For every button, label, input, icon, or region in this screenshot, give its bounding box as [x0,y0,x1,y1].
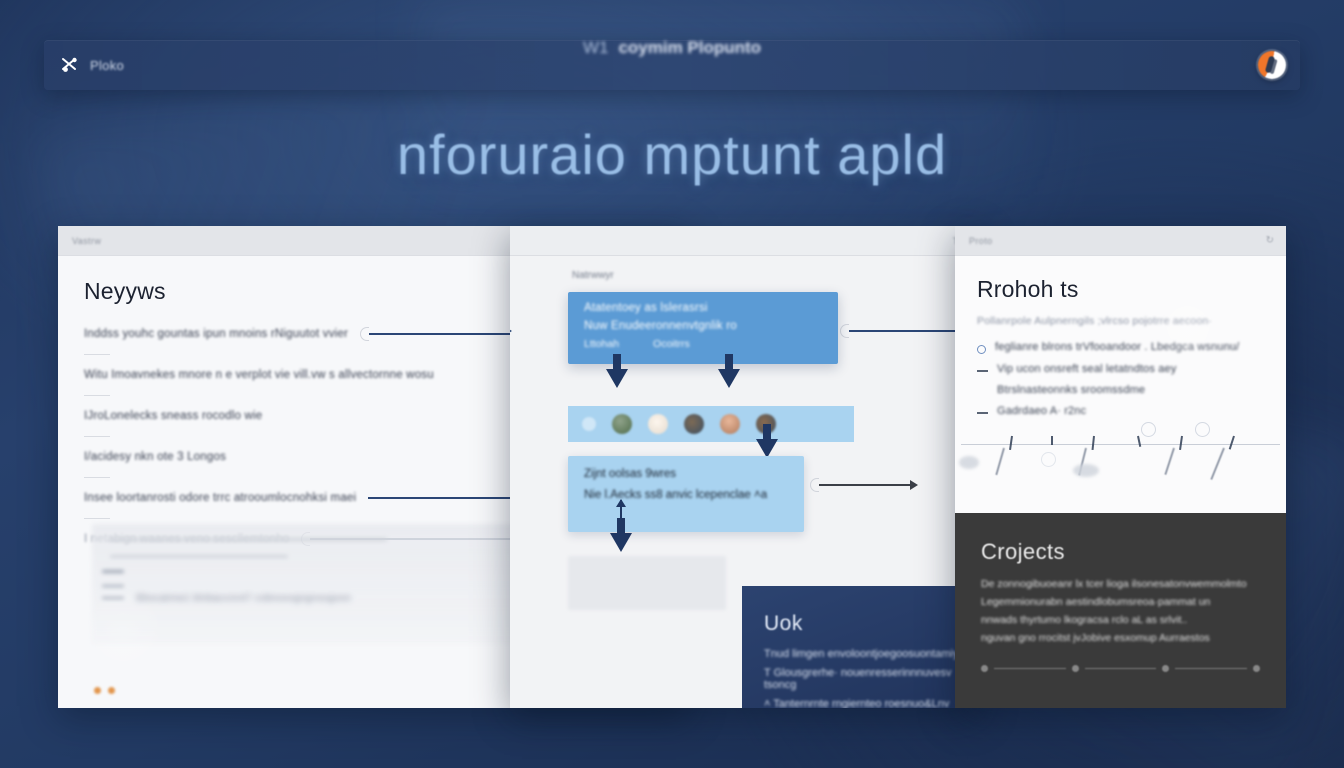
diagram-card-secondary[interactable]: Zijnt oolsas 9wres Nie l.Aecks ss8 anvic… [568,456,804,532]
navy-card-line: T Glousgrerhe· nouenresserinnnuvesv tson… [764,667,974,691]
right-panel: Proto ↻ Rrohoh ts Pollanrpole Aulpnerngi… [955,226,1286,708]
list-item-label: Insee loortanrosti odore trrc atrooumloc… [84,492,356,504]
ghost-text: Bbocatmw1 blnbaccnn47 cobnoxogngnsogoon [136,593,351,604]
spacer-icon [977,391,988,393]
arrow-down-icon [756,424,778,458]
navy-card-line: ˄ Tanternrnte rngiernteo roesnuo&Lnv aen… [764,698,974,708]
ghost-content-block: Bbocatmw1 blnbaccnn47 cobnoxogngnsogoon [92,524,538,644]
ghost-card [568,556,726,610]
dark-card-line: Legemmionurabn aestindlobumsreoa·pammat … [981,596,1260,608]
list-item[interactable]: Vip ucon onsreft seal letatndtos aey [977,363,1264,375]
right-panel-chrome-label: Proto [969,236,993,246]
dark-card-title: Crojects [981,539,1260,565]
list-item-label: Inddss youhc gountas ipun mnoins rNiguut… [84,328,348,340]
dark-card-progress [981,665,1260,672]
user-avatar[interactable] [1258,51,1286,79]
navy-card-line: Tnud limgen envoloontjoegoosuontamiy [764,648,974,660]
arrow-down-icon [718,354,740,388]
arrow-down-icon [610,518,632,552]
scissors-logo-icon [60,55,80,75]
footer-dot [108,687,115,694]
dark-card-line: De zonnogibuoeanr lx tcer lioga ilsonesa… [981,578,1260,590]
footer-dot [94,687,101,694]
connector-in-left [510,324,512,338]
list-item-label: IJroLonelecks sneass rocodlo wie [84,410,262,422]
right-panel-chrome: Proto ↻ [955,226,1286,256]
right-panel-title: Rrohoh ts [977,276,1264,303]
card-line-1: Atatentoey as lslerasrsi [584,302,822,314]
list-item[interactable]: Btrslnasteonnks sroomssdme [977,384,1264,396]
brand[interactable]: Ploko [60,55,124,75]
left-panel-chrome-label: Vastrw [72,236,101,246]
avatar-band[interactable] [568,406,854,442]
divider [84,477,110,478]
list-item-label: Witu Imoavnekes mnore n e verplot vie vi… [84,369,434,381]
dark-card[interactable]: Crojects De zonnogibuoeanr lx tcer lioga… [955,513,1286,708]
footer-dots [94,687,115,694]
card-line-1: Zijnt oolsas 9wres [584,468,788,480]
center-panel: Tco Natrwwyr Atatentoey as lslerasrsi Nu… [510,226,980,708]
avatar [612,414,632,434]
avatar [648,414,668,434]
right-panel-list: feglianre blrons trVfooandoor . Lbedgca … [977,341,1264,417]
divider [84,395,110,396]
divider [84,518,110,519]
panels-stage: Vastrw ⎙ Neyyws Inddss youhc gountas ipu… [58,226,1286,708]
avatar [684,414,704,434]
arrow-up-icon [620,500,622,520]
dash-icon [977,412,988,414]
card-sub-right: Ocoitrrs [653,338,690,350]
center-panel-chrome: Tco [510,226,980,256]
page-title: nforuraio mptunt apld [397,122,947,187]
card-sub-left: Lttohah [584,338,619,350]
navy-card-title: Uok [764,612,974,636]
arrow-down-icon [606,354,628,388]
bullet-icon [977,345,986,354]
connector-out-right-lower [810,478,918,492]
diagram-label: Natrwwyr [572,270,614,281]
avatar [720,414,740,434]
list-item-label: feglianre blrons trVfooandoor . Lbedgca … [995,341,1239,353]
list-item-label: Vip ucon onsreft seal letatndtos aey [997,363,1176,375]
dash-icon [977,370,988,372]
avatar [582,417,596,431]
refresh-icon[interactable]: ↻ [1266,235,1274,246]
divider [84,354,110,355]
timeline [955,434,1286,504]
list-item[interactable]: feglianre blrons trVfooandoor . Lbedgca … [977,341,1264,354]
list-item-label: Btrslnasteonnks sroomssdme [997,384,1145,396]
hero: nforuraio mptunt apld [0,122,1344,187]
card-line-2: Nie l.Aecks ss8 anvic lcepenclae ˄a [584,489,788,501]
list-item[interactable]: Gadrdaeo A· r2nc [977,405,1264,417]
brand-label: Ploko [90,58,124,73]
dark-card-line: nguvan gno rrocitst jvJobive esxomup Aur… [981,632,1260,644]
center-diagram: Natrwwyr Atatentoey as lslerasrsi Nuw En… [510,256,980,708]
list-item-label: I/acidesy nkn ote 3 Longos [84,451,226,463]
right-panel-subtitle: Pollanrpole Aulpnerngils ;vlrcso pojotrr… [977,315,1264,327]
divider [84,436,110,437]
list-item-label: Gadrdaeo A· r2nc [997,405,1086,417]
dark-card-line: nnwads thyrtumo lkogracsa rclo aL as srl… [981,614,1260,626]
navy-card[interactable]: Uok Tnud limgen envoloontjoegoosuontamiy… [742,586,980,708]
card-line-2: Nuw Enudeeronnenvtgnlik ro [584,320,822,332]
top-bar: Ploko [44,40,1300,90]
